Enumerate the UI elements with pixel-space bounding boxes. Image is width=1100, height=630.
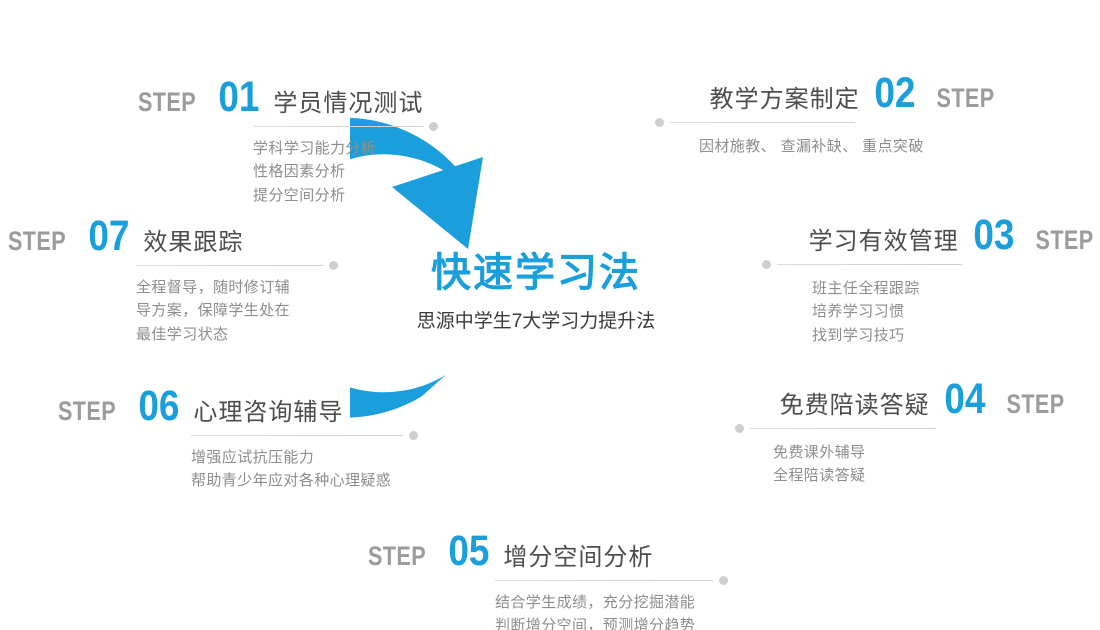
step-07-connector: [136, 260, 338, 270]
step-07-dot: [329, 261, 338, 270]
step-05-word: STEP: [368, 541, 426, 572]
step-block-04[interactable]: 免费陪读答疑 04 STEP 免费课外辅导 全程陪读答疑: [735, 378, 1065, 488]
center-text-block: 快速学习法 思源中学生7大学习力提升法: [370, 252, 702, 333]
step-02-header: 教学方案制定 02 STEP: [655, 72, 995, 115]
step-04-word: STEP: [1007, 389, 1065, 420]
step-03-word: STEP: [1036, 225, 1094, 256]
step-block-07[interactable]: STEP 07 效果跟踪 全程督导，随时修订辅 导方案，保障学生处在 最佳学习状…: [8, 215, 338, 346]
step-06-word: STEP: [58, 396, 116, 427]
center-title: 快速学习法: [370, 252, 702, 294]
step-06-number: 06: [138, 385, 179, 428]
step-07-number: 07: [88, 215, 129, 258]
step-07-rule: [136, 265, 323, 266]
step-03-dot: [762, 260, 771, 269]
step-01-header: STEP 01 学员情况测试: [138, 76, 438, 119]
step-03-connector: [762, 259, 962, 269]
center-subtitle: 思源中学生7大学习力提升法: [370, 306, 702, 333]
step-block-06[interactable]: STEP 06 心理咨询辅导 增强应试抗压能力 帮助青少年应对各种心理疑惑: [58, 385, 418, 493]
step-05-dot: [719, 576, 728, 585]
step-03-body: 班主任全程跟踪 培养学习习惯 找到学习技巧: [812, 277, 1094, 347]
step-05-rule: [495, 580, 713, 581]
step-02-dot: [655, 118, 664, 127]
step-04-number: 04: [944, 378, 985, 421]
step-02-number: 02: [874, 72, 915, 115]
infographic-canvas: 快速学习法 思源中学生7大学习力提升法 STEP 01 学员情况测试 学科学习能…: [0, 0, 1100, 630]
step-04-body: 免费课外辅导 全程陪读答疑: [773, 441, 1065, 488]
step-01-word: STEP: [138, 87, 196, 118]
step-04-connector: [735, 423, 935, 433]
step-04-rule: [750, 428, 935, 429]
step-05-connector: [495, 575, 728, 585]
step-block-05[interactable]: STEP 05 增分空间分析 结合学生成绩，充分挖掘潜能 判断增分空间，预测增分…: [368, 530, 728, 630]
step-block-02[interactable]: 教学方案制定 02 STEP 因材施教、 查漏补缺、 重点突破: [655, 72, 995, 158]
step-05-title: 增分空间分析: [503, 537, 653, 572]
step-02-body: 因材施教、 查漏补缺、 重点突破: [699, 135, 995, 158]
step-03-title: 学习有效管理: [809, 221, 959, 256]
step-06-dot: [409, 431, 418, 440]
step-01-title: 学员情况测试: [273, 83, 423, 118]
step-02-rule: [670, 122, 855, 123]
step-02-word: STEP: [937, 83, 995, 114]
step-01-body: 学科学习能力分析 性格因素分析 提分空间分析: [253, 137, 438, 207]
step-01-rule: [253, 126, 423, 127]
step-07-header: STEP 07 效果跟踪: [8, 215, 338, 258]
step-07-word: STEP: [8, 226, 66, 257]
step-05-number: 05: [448, 530, 489, 573]
step-06-title: 心理咨询辅导: [193, 392, 343, 427]
step-04-title: 免费陪读答疑: [780, 385, 930, 420]
step-06-body: 增强应试抗压能力 帮助青少年应对各种心理疑惑: [191, 446, 418, 493]
step-07-body: 全程督导，随时修订辅 导方案，保障学生处在 最佳学习状态: [136, 276, 338, 346]
step-block-01[interactable]: STEP 01 学员情况测试 学科学习能力分析 性格因素分析 提分空间分析: [138, 76, 438, 207]
step-06-connector: [191, 430, 418, 440]
step-06-header: STEP 06 心理咨询辅导: [58, 385, 418, 428]
step-01-connector: [253, 121, 438, 131]
step-06-rule: [191, 435, 403, 436]
step-01-number: 01: [218, 76, 259, 119]
step-05-header: STEP 05 增分空间分析: [368, 530, 728, 573]
step-03-number: 03: [973, 214, 1014, 257]
step-05-body: 结合学生成绩，充分挖掘潜能 判断增分空间，预测增分趋势: [495, 591, 728, 630]
step-block-03[interactable]: 学习有效管理 03 STEP 班主任全程跟踪 培养学习习惯 找到学习技巧: [762, 214, 1094, 347]
step-07-title: 效果跟踪: [143, 222, 243, 257]
step-04-dot: [735, 424, 744, 433]
step-01-dot: [429, 122, 438, 131]
step-02-title: 教学方案制定: [710, 79, 860, 114]
step-03-header: 学习有效管理 03 STEP: [762, 214, 1094, 257]
step-02-connector: [655, 117, 855, 127]
step-03-rule: [777, 264, 962, 265]
step-04-header: 免费陪读答疑 04 STEP: [735, 378, 1065, 421]
